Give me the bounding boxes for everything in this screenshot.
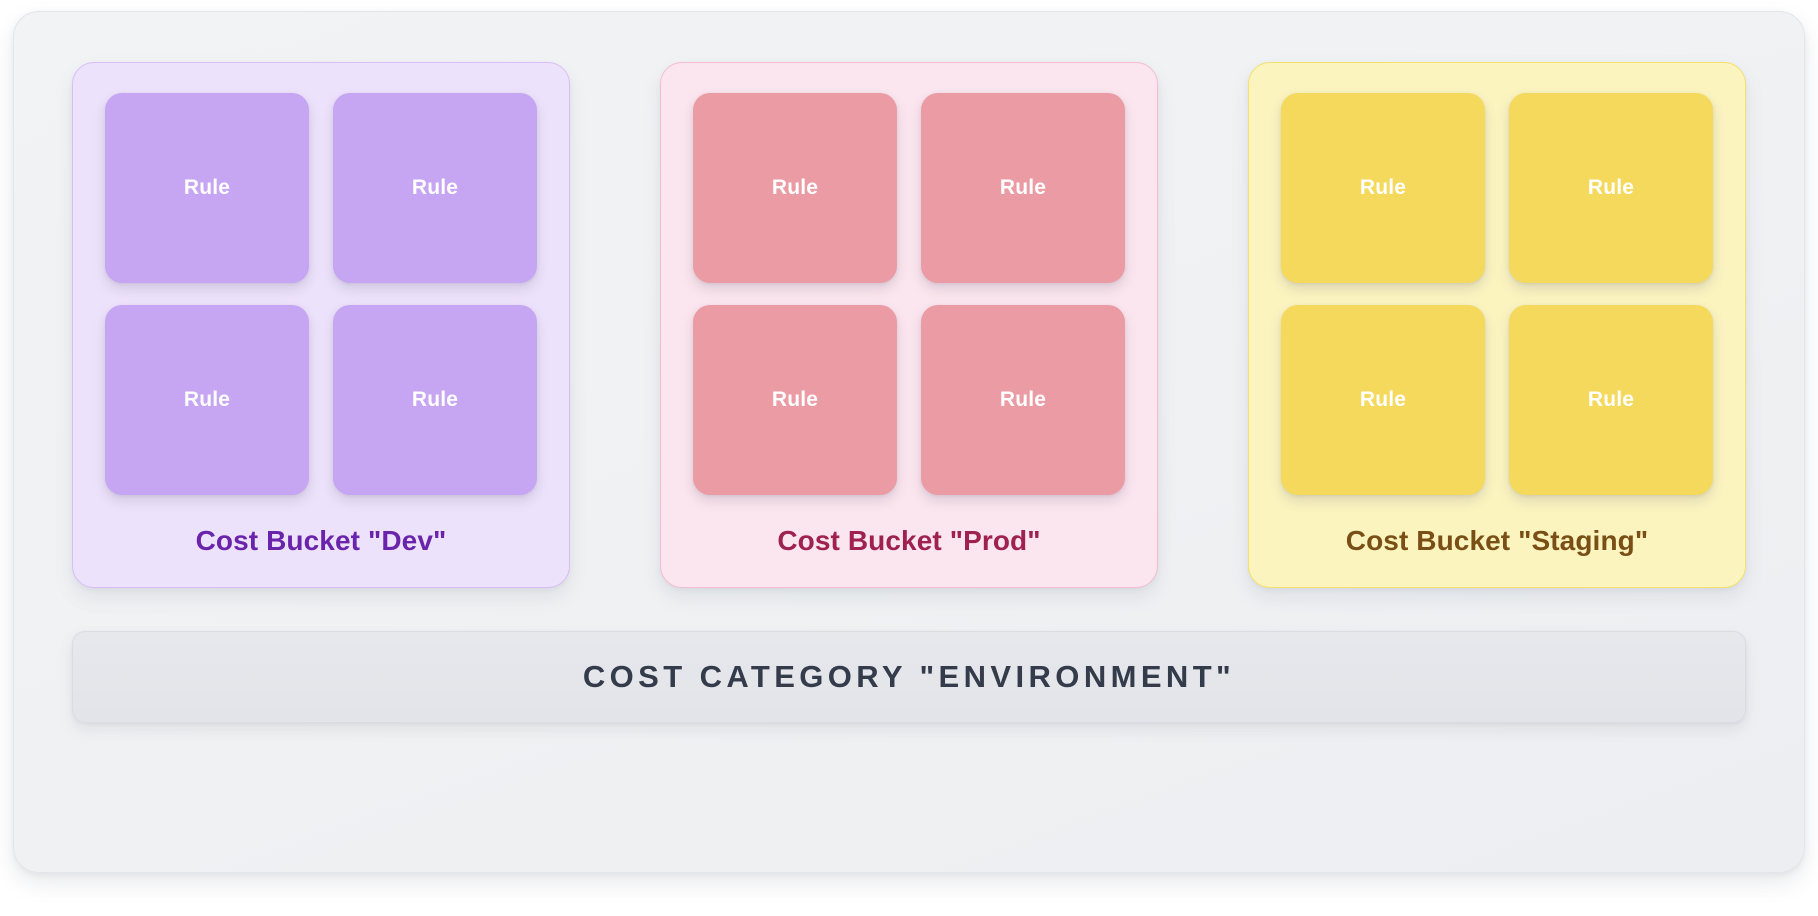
rule-tile-label: Rule: [1000, 176, 1046, 200]
rule-tile[interactable]: Rule: [333, 93, 537, 283]
rule-tile[interactable]: Rule: [105, 93, 309, 283]
cost-category-bar: COST CATEGORY "ENVIRONMENT": [72, 631, 1746, 723]
cost-bucket-dev[interactable]: Rule Rule Rule Rule Cost Bucket "Dev": [72, 62, 570, 588]
rule-grid-dev: Rule Rule Rule Rule: [105, 93, 537, 495]
rule-tile-label: Rule: [1000, 388, 1046, 412]
rule-grid-staging: Rule Rule Rule Rule: [1281, 93, 1713, 495]
rule-tile[interactable]: Rule: [105, 305, 309, 495]
rule-tile-label: Rule: [184, 388, 230, 412]
rule-tile-label: Rule: [772, 176, 818, 200]
cost-bucket-label-dev: Cost Bucket "Dev": [105, 525, 537, 567]
rule-tile[interactable]: Rule: [333, 305, 537, 495]
rule-tile[interactable]: Rule: [921, 93, 1125, 283]
cost-bucket-label-prod: Cost Bucket "Prod": [693, 525, 1125, 567]
rule-grid-prod: Rule Rule Rule Rule: [693, 93, 1125, 495]
rule-tile-label: Rule: [184, 176, 230, 200]
rule-tile-label: Rule: [412, 388, 458, 412]
rule-tile[interactable]: Rule: [1509, 93, 1713, 283]
rule-tile-label: Rule: [772, 388, 818, 412]
rule-tile[interactable]: Rule: [1281, 93, 1485, 283]
rule-tile-label: Rule: [412, 176, 458, 200]
cost-bucket-prod[interactable]: Rule Rule Rule Rule Cost Bucket "Prod": [660, 62, 1158, 588]
rule-tile[interactable]: Rule: [1281, 305, 1485, 495]
rule-tile-label: Rule: [1360, 388, 1406, 412]
rule-tile[interactable]: Rule: [921, 305, 1125, 495]
cost-category-diagram: Rule Rule Rule Rule Cost Bucket "Dev" Ru…: [13, 11, 1805, 873]
rule-tile[interactable]: Rule: [693, 93, 897, 283]
rule-tile[interactable]: Rule: [1509, 305, 1713, 495]
cost-category-title: COST CATEGORY "ENVIRONMENT": [583, 659, 1235, 695]
cost-buckets-row: Rule Rule Rule Rule Cost Bucket "Dev" Ru…: [72, 62, 1746, 588]
rule-tile-label: Rule: [1588, 176, 1634, 200]
rule-tile-label: Rule: [1360, 176, 1406, 200]
rule-tile-label: Rule: [1588, 388, 1634, 412]
rule-tile[interactable]: Rule: [693, 305, 897, 495]
cost-bucket-label-staging: Cost Bucket "Staging": [1281, 525, 1713, 567]
cost-bucket-staging[interactable]: Rule Rule Rule Rule Cost Bucket "Staging…: [1248, 62, 1746, 588]
